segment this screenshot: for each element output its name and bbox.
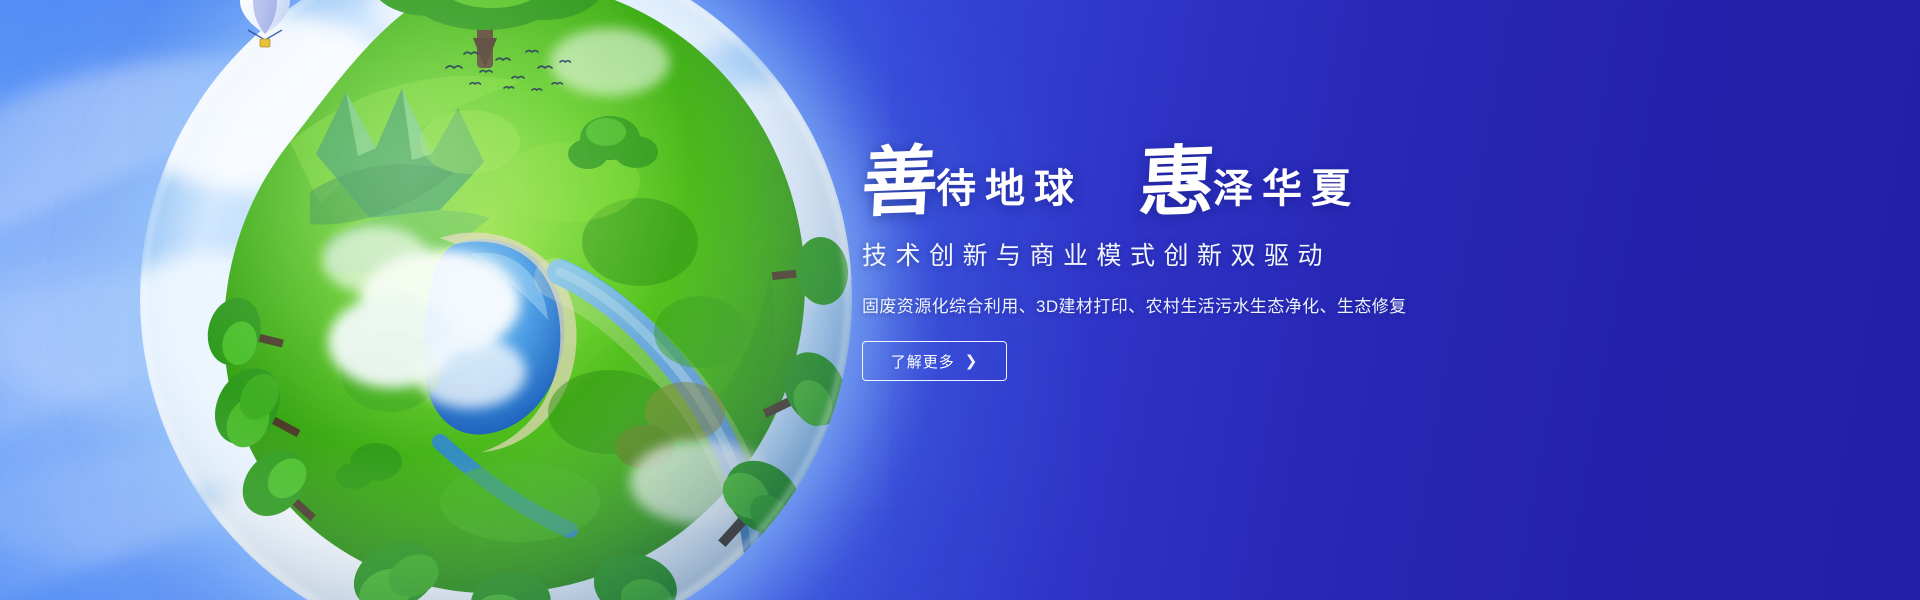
hero-content: 善 待地球 惠 泽华夏 技术创新与商业模式创新双驱动 固废资源化综合利用、3D建… [862,128,1682,381]
page-title: 善 待地球 惠 泽华夏 [862,128,1682,220]
headline-char-primary-1: 善 [860,145,942,220]
learn-more-label: 了解更多 [891,351,955,372]
hero-description: 固废资源化综合利用、3D建材打印、农村生活污水生态净化、生态修复 [862,292,1682,317]
headline-char-primary-2: 惠 [1137,145,1219,220]
headline-text-secondary-2: 泽华夏 [1213,156,1360,214]
cloud-streaks [0,0,840,600]
headline-text-secondary-1: 待地球 [936,156,1083,214]
hot-air-balloon [236,0,294,54]
headline-group-2: 惠 泽华夏 [1139,146,1364,220]
flying-birds-flock [440,38,580,98]
headline-group-1: 善 待地球 [862,146,1087,220]
hero-banner: 善 待地球 惠 泽华夏 技术创新与商业模式创新双驱动 固废资源化综合利用、3D建… [0,0,1920,600]
chevron-right-icon: ❯ [965,354,979,369]
learn-more-button[interactable]: 了解更多 ❯ [862,341,1007,381]
hero-subtitle: 技术创新与商业模式创新双驱动 [862,236,1682,272]
